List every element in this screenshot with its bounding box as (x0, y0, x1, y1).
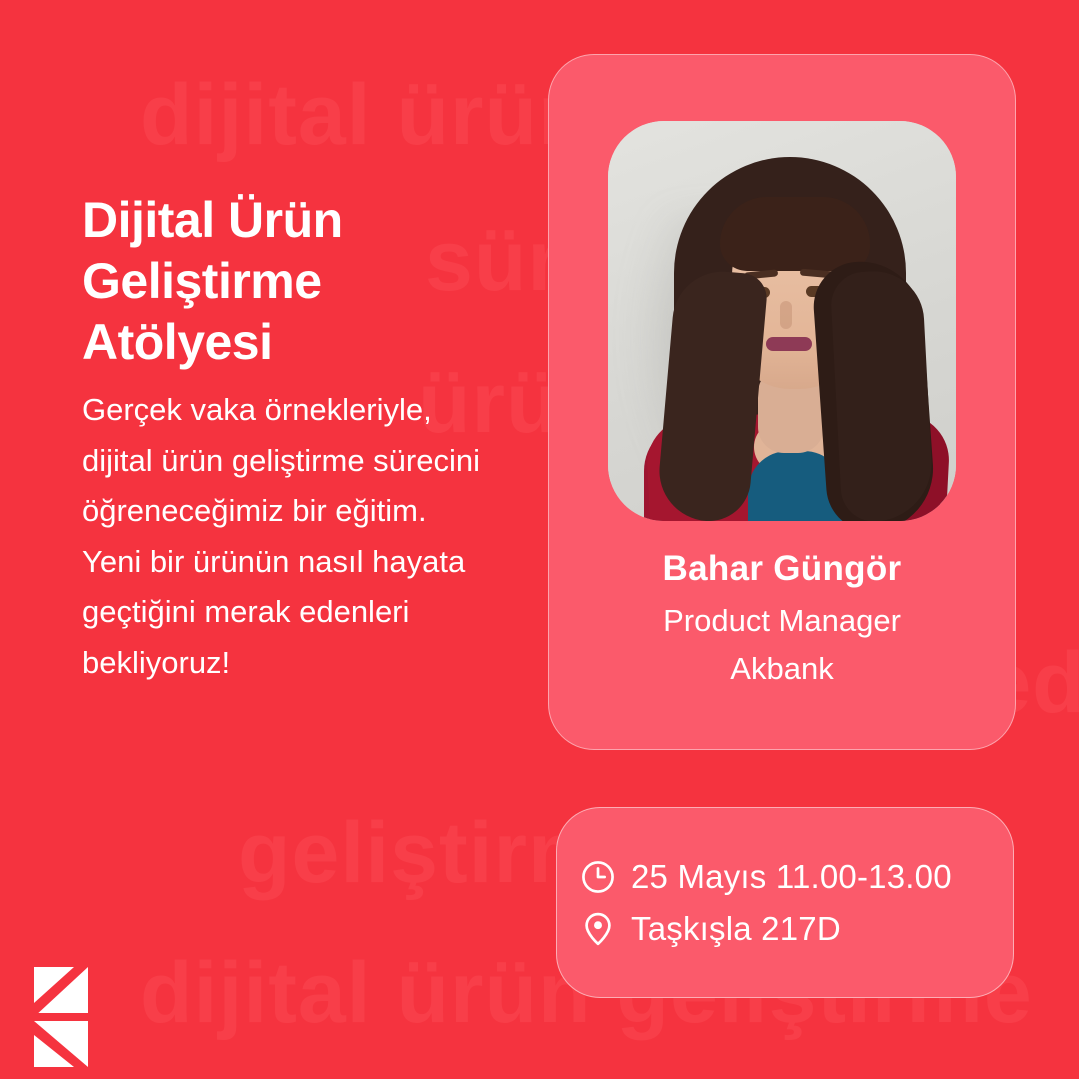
k-logo (30, 963, 92, 1071)
event-time-row: 25 Mayıs 11.00-13.00 (579, 858, 1013, 896)
event-info-column: Dijital Ürün Geliştirme Atölyesi Gerçek … (82, 190, 502, 688)
speaker-organization: Akbank (730, 651, 833, 687)
event-location-row: Taşkışla 217D (579, 910, 1013, 948)
clock-icon (579, 858, 617, 896)
event-details-card: 25 Mayıs 11.00-13.00 Taşkışla 217D (556, 807, 1014, 998)
event-time: 25 Mayıs 11.00-13.00 (631, 858, 952, 896)
lips (766, 337, 812, 351)
event-description: Gerçek vaka örnekleriyle, dijital ürün g… (82, 385, 482, 688)
hair-front (830, 269, 935, 521)
event-title: Dijital Ürün Geliştirme Atölyesi (82, 190, 502, 373)
location-pin-icon (579, 910, 617, 948)
speaker-photo (608, 121, 956, 521)
event-location: Taşkışla 217D (631, 910, 841, 948)
hair-fringe (720, 197, 870, 271)
nose (780, 301, 792, 329)
speaker-role: Product Manager (663, 603, 901, 639)
event-poster: dijital ürün sürecini ürünün hayata mera… (0, 0, 1079, 1079)
speaker-card: Bahar Güngör Product Manager Akbank (548, 54, 1016, 750)
watermark-row: dijital ürün (140, 72, 592, 158)
speaker-name: Bahar Güngör (663, 549, 902, 589)
